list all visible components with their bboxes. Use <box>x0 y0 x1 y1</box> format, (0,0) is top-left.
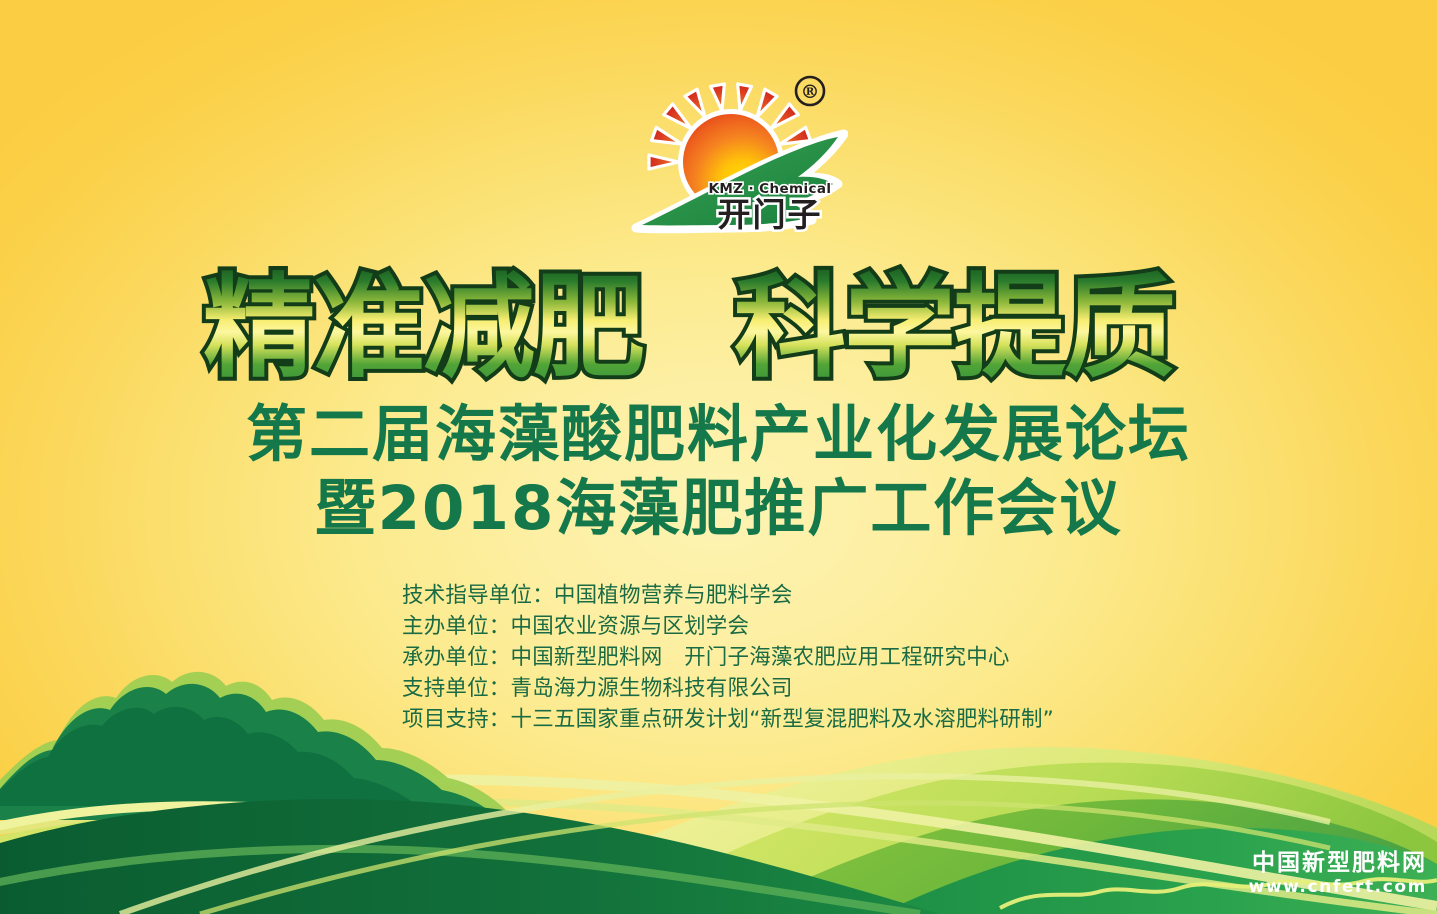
watermark-url: www.cnfert.com <box>1249 877 1427 898</box>
headline: 精准减肥 科学提质 <box>0 262 1437 392</box>
subtitle-block: 第二届海藻酸肥料产业化发展论坛 暨2018海藻肥推广工作会议 <box>0 398 1437 546</box>
event-poster: ® KMZ · Chemical 开门子 <box>0 0 1437 914</box>
info-line-supporter: 支持单位：青岛海力源生物科技有限公司 <box>402 673 1162 704</box>
info-line-project-support: 项目支持：十三五国家重点研发计划“新型复混肥料及水溶肥料研制” <box>402 704 1162 735</box>
info-line-host: 主办单位：中国农业资源与区划学会 <box>402 611 1162 642</box>
registered-mark-letter: ® <box>801 81 820 103</box>
info-line-organizer: 承办单位：中国新型肥料网 开门子海藻农肥应用工程研究中心 <box>402 642 1162 673</box>
subtitle-line-1: 第二届海藻酸肥料产业化发展论坛 <box>0 398 1437 472</box>
subtitle-line-2: 暨2018海藻肥推广工作会议 <box>0 472 1437 546</box>
registered-mark-icon: ® <box>796 77 824 105</box>
headline-graphic: 精准减肥 科学提质 <box>189 262 1249 390</box>
headline-part-1: 精准减肥 <box>203 263 643 390</box>
watermark-site-name: 中国新型肥料网 <box>1249 850 1427 877</box>
site-watermark: 中国新型肥料网 www.cnfert.com <box>1249 850 1427 898</box>
headline-part-2: 科学提质 <box>734 263 1174 390</box>
organizer-info-block: 技术指导单位：中国植物营养与肥料学会 主办单位：中国农业资源与区划学会 承办单位… <box>402 580 1162 735</box>
logo-brand-cn: 开门子 <box>718 195 823 234</box>
info-line-technical-guidance: 技术指导单位：中国植物营养与肥料学会 <box>402 580 1162 611</box>
kmz-logo-graphic: ® KMZ · Chemical 开门子 <box>618 62 848 252</box>
company-logo: ® KMZ · Chemical 开门子 <box>618 62 848 252</box>
